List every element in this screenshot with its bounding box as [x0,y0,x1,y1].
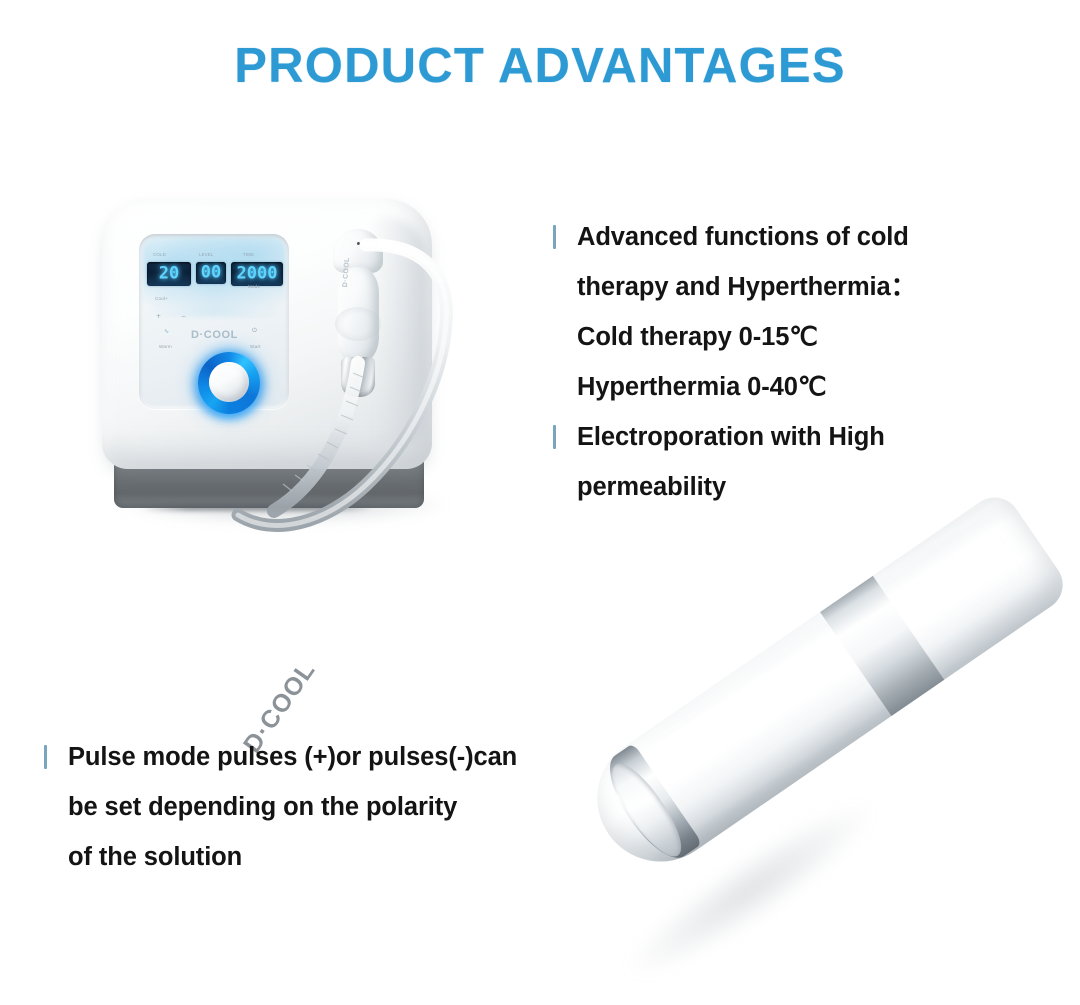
handpiece-large-cryo-plate [602,755,692,865]
advantage-text: Advanced functions of cold [577,212,909,262]
page-title: PRODUCT ADVANTAGES [0,38,1080,94]
advantage-text: be set depending on the polarity [68,782,457,832]
handpiece-large [560,505,1080,1005]
advantage-line: Electroporation with High [553,412,916,462]
advantage-line: Cold therapy 0-15℃ [553,312,916,362]
advantage-line: be set depending on the polarity [44,782,517,832]
product-device-image: COLD 20 LEVEL 00 TIME 2000 Cool+ + − ∿ W… [98,193,460,533]
advantage-text: therapy and Hyperthermia： [577,262,916,312]
advantage-line: of the solution [44,832,517,882]
advantages-text-right: Advanced functions of cold therapy and H… [553,212,916,512]
bullet-marker-icon [553,225,556,249]
advantage-text: Pulse mode pulses (+)or pulses(-)can [68,732,517,782]
handpiece-large-chrome-ring [595,743,702,870]
advantage-line: Hyperthermia 0-40℃ [553,362,916,412]
advantage-text: of the solution [68,832,242,882]
advantage-line: Pulse mode pulses (+)or pulses(-)can [44,732,517,782]
bullet-marker-icon [44,745,47,769]
advantage-text: Cold therapy 0-15℃ [577,312,818,362]
advantage-line: Advanced functions of cold [553,212,916,262]
advantage-text: Electroporation with High [577,412,885,462]
advantage-text: Hyperthermia 0-40℃ [577,362,826,412]
advantages-text-bottom: Pulse mode pulses (+)or pulses(-)can be … [44,732,517,882]
bullet-marker-icon [553,425,556,449]
handpiece-cable [98,193,460,533]
handpiece-large-chrome-band [820,576,944,716]
advantage-line: therapy and Hyperthermia： [553,262,916,312]
